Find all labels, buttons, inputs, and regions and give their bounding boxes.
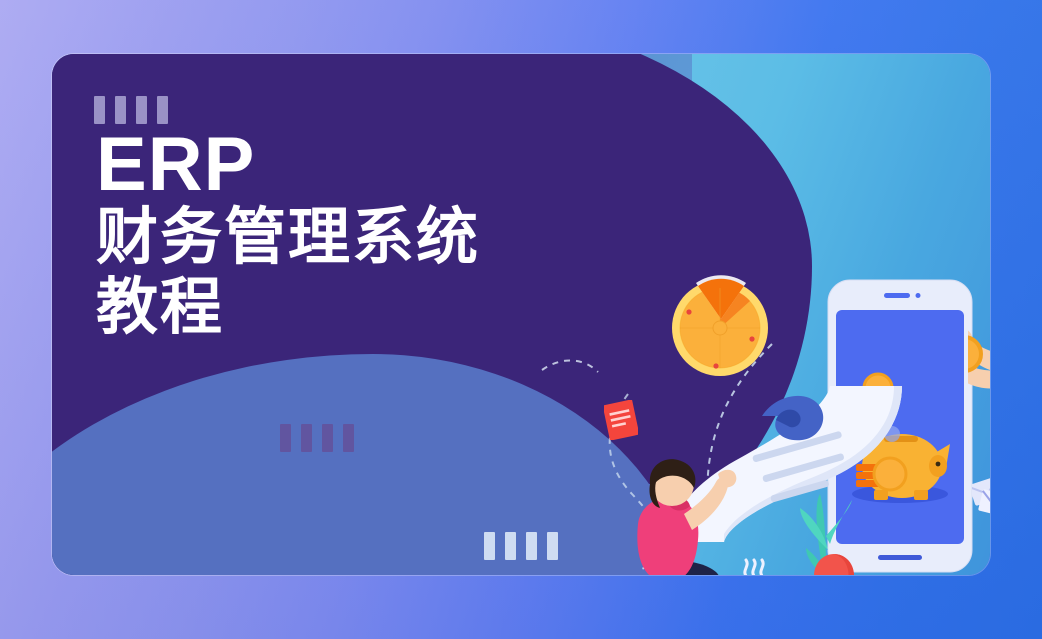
dash-mark [94, 96, 105, 124]
poster-canvas: ERP 财务管理系统 教程 [0, 0, 1042, 639]
dash-mark [136, 96, 147, 124]
dash-mark [280, 424, 291, 452]
blue-blob-base [52, 484, 692, 575]
dash-mark [505, 532, 516, 560]
dash-mark [115, 96, 126, 124]
decor-dashes-3 [484, 532, 558, 560]
headline-line-2: 财务管理系统 [96, 202, 480, 272]
dash-mark [484, 532, 495, 560]
dash-mark [301, 424, 312, 452]
dash-mark [157, 96, 168, 124]
dash-mark [322, 424, 333, 452]
dash-mark [547, 532, 558, 560]
decor-dashes-1 [94, 96, 168, 124]
headline-line-3: 教程 [96, 272, 480, 342]
headline-line-1: ERP [96, 128, 480, 202]
poster-card: ERP 财务管理系统 教程 [52, 54, 990, 575]
headline-block: ERP 财务管理系统 教程 [96, 128, 480, 342]
dash-mark [343, 424, 354, 452]
decor-dashes-2 [280, 424, 354, 452]
dash-mark [526, 532, 537, 560]
